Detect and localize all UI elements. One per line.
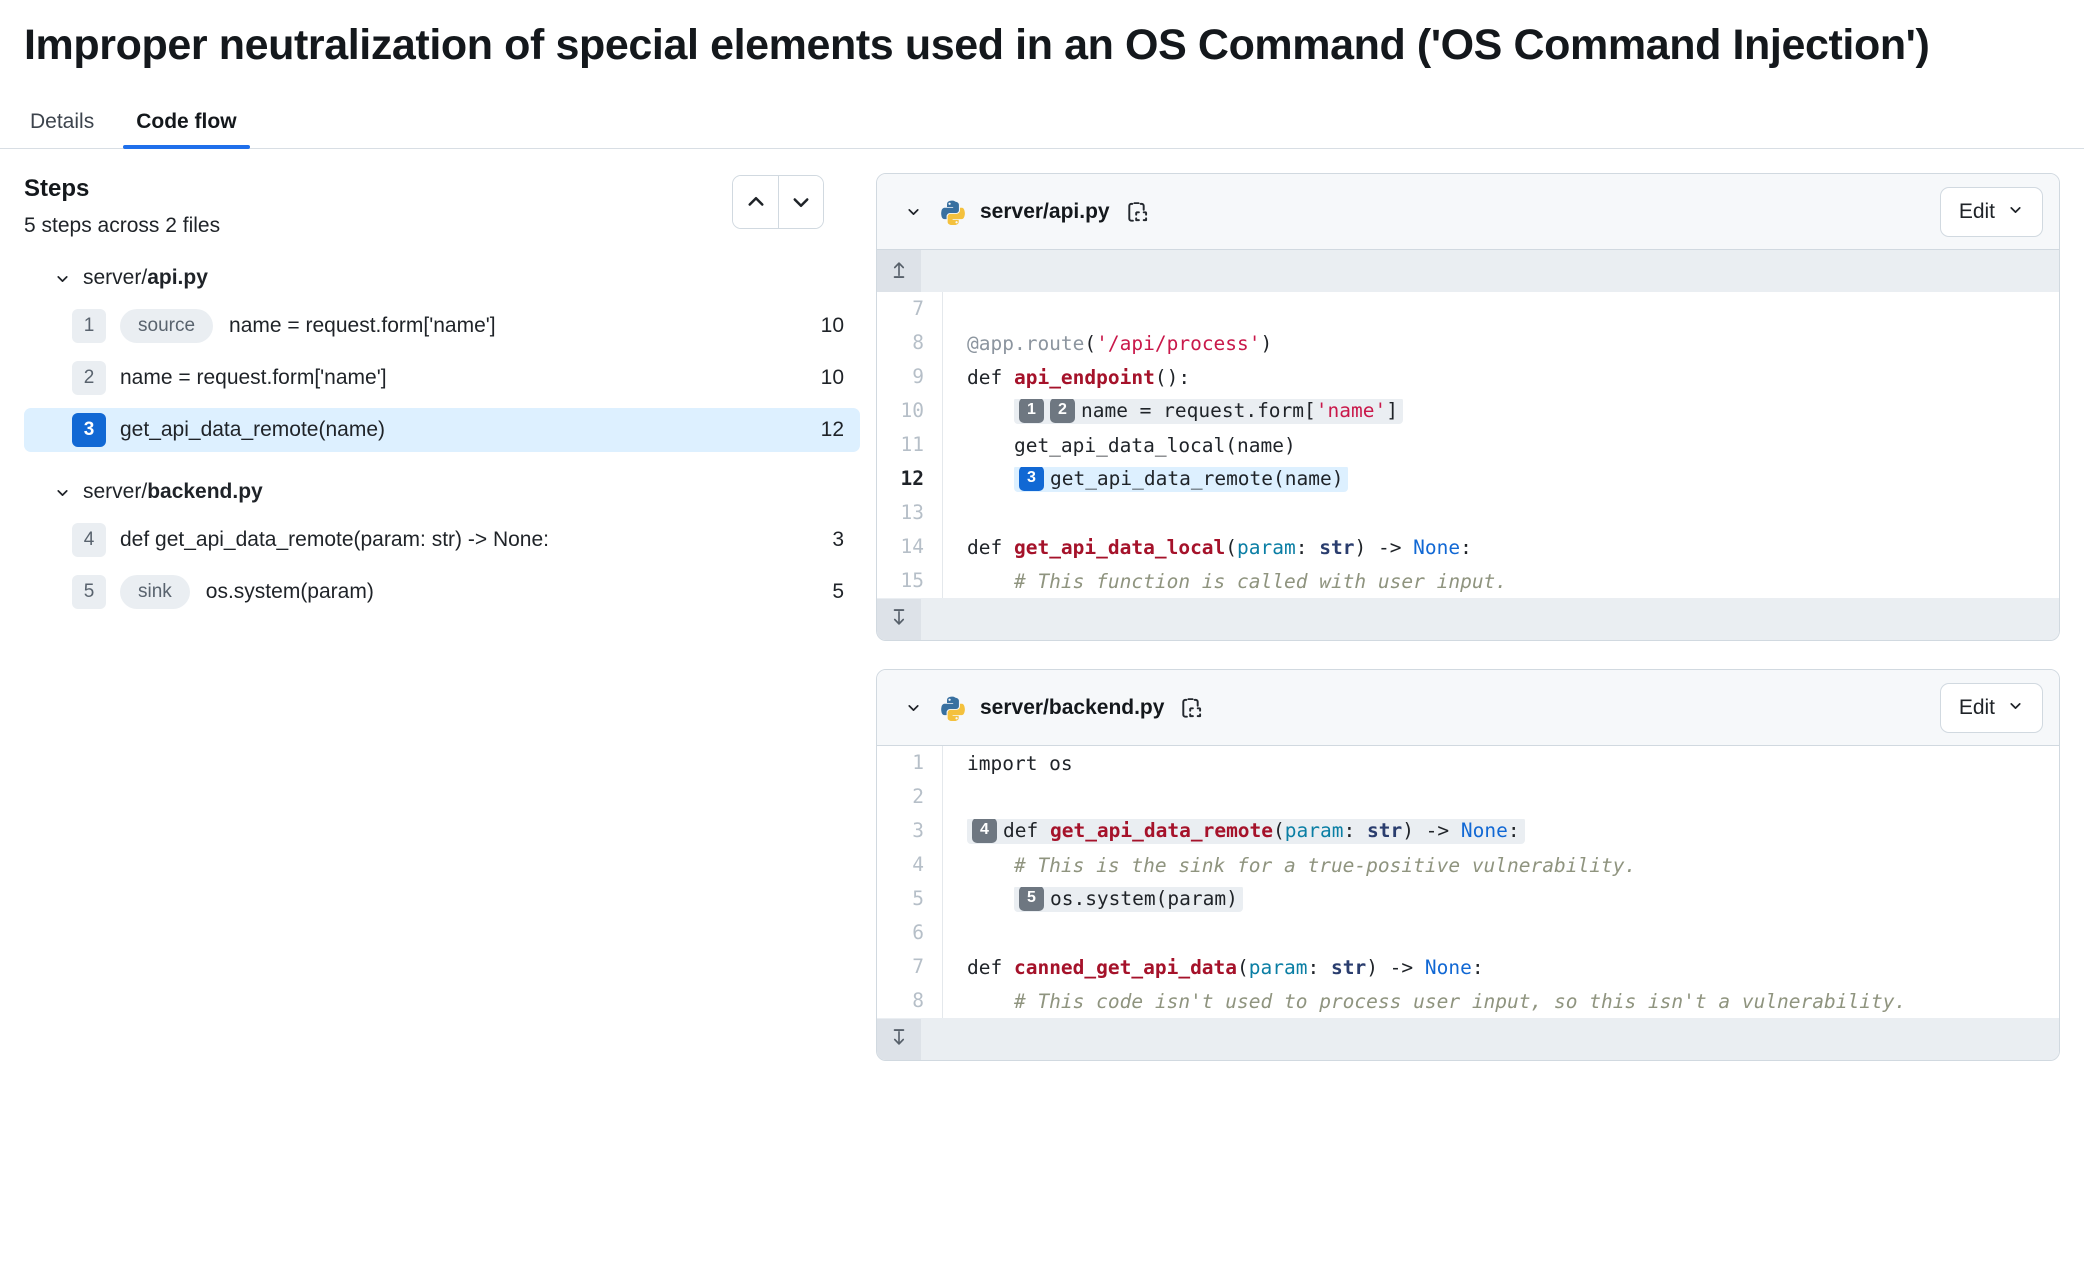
line-number: 1 <box>877 746 943 780</box>
line-content: 3get_api_data_remote(name) <box>943 467 2059 492</box>
chevron-down-icon <box>2007 200 2024 224</box>
step-nav-group <box>732 175 824 229</box>
edit-button[interactable]: Edit <box>1940 187 2043 237</box>
step-code-text: os.system(param) <box>206 580 819 604</box>
edit-button-label: Edit <box>1959 200 1995 224</box>
code-line: 10 12name = request.form['name'] <box>877 394 2059 428</box>
line-number: 7 <box>877 950 943 984</box>
line-number: 13 <box>877 496 943 530</box>
step-line-number: 10 <box>821 366 844 390</box>
line-number: 7 <box>877 292 943 326</box>
step-code-text: name = request.form['name'] <box>229 314 807 338</box>
step-badge-5[interactable]: 5 <box>1019 887 1044 911</box>
code-panel-file-path: server/backend.py <box>980 696 1164 720</box>
code-panel-file-path: server/api.py <box>980 200 1110 224</box>
python-icon <box>940 199 966 225</box>
previous-step-button[interactable] <box>733 176 778 228</box>
copy-icon[interactable] <box>1180 696 1204 720</box>
tab-bar: Details Code flow <box>0 95 2084 149</box>
step-file-group: server/api.py 1 source name = request.fo… <box>24 260 860 452</box>
code-content-backend[interactable]: 1 import os 2 3 4def get_api_data_remote… <box>877 746 2059 1018</box>
step-number: 4 <box>72 523 106 557</box>
step-line-number: 12 <box>821 418 844 442</box>
code-panel-header: server/api.py Edit <box>877 174 2059 250</box>
file-name: api.py <box>147 266 208 289</box>
line-number: 4 <box>877 848 943 882</box>
list-item[interactable]: 5 sink os.system(param) 5 <box>24 570 860 614</box>
chevron-down-icon <box>54 270 71 287</box>
line-number: 6 <box>877 916 943 950</box>
chevron-up-icon <box>746 192 766 212</box>
arrow-down-to-line-icon <box>889 1028 909 1051</box>
copy-icon[interactable] <box>1126 200 1150 224</box>
arrow-up-to-line-icon <box>889 259 909 282</box>
code-line: 8 # This code isn't used to process user… <box>877 984 2059 1018</box>
code-line: 2 <box>877 780 2059 814</box>
scroll-up-strip <box>877 250 2059 292</box>
code-line-current: 12 3get_api_data_remote(name) <box>877 462 2059 496</box>
code-line: 15 # This function is called with user i… <box>877 564 2059 598</box>
step-number: 1 <box>72 309 106 343</box>
line-number: 3 <box>877 814 943 848</box>
chevron-down-icon[interactable] <box>905 699 922 716</box>
scroll-to-top-button[interactable] <box>877 250 921 292</box>
line-number: 9 <box>877 360 943 394</box>
code-line: 7 def canned_get_api_data(param: str) ->… <box>877 950 2059 984</box>
code-line: 7 <box>877 292 2059 326</box>
status-badge: source <box>120 309 213 343</box>
step-file-header-api[interactable]: server/api.py <box>24 260 860 296</box>
step-number: 5 <box>72 575 106 609</box>
step-code-text: name = request.form['name'] <box>120 366 807 390</box>
line-number: 8 <box>877 984 943 1018</box>
line-number: 10 <box>877 394 943 428</box>
chevron-down-icon <box>54 484 71 501</box>
step-file-group: server/backend.py 4 def get_api_data_rem… <box>24 474 860 614</box>
line-content: # This code isn't used to process user i… <box>943 990 2059 1013</box>
line-number: 11 <box>877 428 943 462</box>
list-item[interactable]: 2 name = request.form['name'] 10 <box>24 356 860 400</box>
steps-subtitle: 5 steps across 2 files <box>24 213 220 238</box>
scroll-to-bottom-button[interactable] <box>877 599 921 641</box>
line-content: def canned_get_api_data(param: str) -> N… <box>943 956 2059 979</box>
line-content: @app.route('/api/process') <box>943 332 2059 355</box>
code-line: 5 5os.system(param) <box>877 882 2059 916</box>
step-code-text: get_api_data_remote(name) <box>120 418 807 442</box>
step-line-number: 10 <box>821 314 844 338</box>
code-line: 8 @app.route('/api/process') <box>877 326 2059 360</box>
list-item-selected[interactable]: 3 get_api_data_remote(name) 12 <box>24 408 860 452</box>
step-number: 2 <box>72 361 106 395</box>
line-content: get_api_data_local(name) <box>943 434 2059 457</box>
code-panel-backend: server/backend.py Edit <box>876 669 2060 1061</box>
step-file-path: server/api.py <box>83 266 208 290</box>
scroll-down-strip <box>877 598 2059 640</box>
list-item[interactable]: 1 source name = request.form['name'] 10 <box>24 304 860 348</box>
code-line: 14 def get_api_data_local(param: str) ->… <box>877 530 2059 564</box>
code-line: 13 <box>877 496 2059 530</box>
chevron-down-icon <box>2007 696 2024 720</box>
code-line: 6 <box>877 916 2059 950</box>
line-number: 15 <box>877 564 943 598</box>
step-badge-4[interactable]: 4 <box>972 819 997 843</box>
file-dir: server/ <box>83 480 147 503</box>
step-badge-1[interactable]: 1 <box>1019 399 1044 423</box>
edit-button-label: Edit <box>1959 696 1995 720</box>
line-content: 4def get_api_data_remote(param: str) -> … <box>943 819 2059 844</box>
line-content: 5os.system(param) <box>943 887 2059 912</box>
step-file-path: server/backend.py <box>83 480 263 504</box>
line-number: 5 <box>877 882 943 916</box>
code-line: 1 import os <box>877 746 2059 780</box>
step-line-number: 3 <box>832 528 844 552</box>
steps-title: Steps <box>24 175 220 204</box>
list-item[interactable]: 4 def get_api_data_remote(param: str) ->… <box>24 518 860 562</box>
line-content: import os <box>943 752 2059 775</box>
code-line: 9 def api_endpoint(): <box>877 360 2059 394</box>
page-title: Improper neutralization of special eleme… <box>0 0 2040 73</box>
step-line-number: 5 <box>832 580 844 604</box>
code-line: 3 4def get_api_data_remote(param: str) -… <box>877 814 2059 848</box>
chevron-down-icon <box>791 192 811 212</box>
line-number: 12 <box>877 462 943 496</box>
line-number: 2 <box>877 780 943 814</box>
line-content: def api_endpoint(): <box>943 366 2059 389</box>
next-step-button[interactable] <box>778 176 823 228</box>
file-name: backend.py <box>147 480 263 503</box>
line-content: # This function is called with user inpu… <box>943 570 2059 593</box>
steps-sidebar: Steps 5 steps across 2 files <box>0 149 860 614</box>
scroll-down-strip <box>877 1018 2059 1060</box>
steps-header-text: Steps 5 steps across 2 files <box>24 175 220 238</box>
scroll-to-bottom-button[interactable] <box>877 1019 921 1061</box>
code-line: 11 get_api_data_local(name) <box>877 428 2059 462</box>
tab-code-flow[interactable]: Code flow <box>130 111 242 148</box>
line-content: def get_api_data_local(param: str) -> No… <box>943 536 2059 559</box>
line-content: 12name = request.form['name'] <box>943 399 2059 424</box>
file-dir: server/ <box>83 266 147 289</box>
code-line: 4 # This is the sink for a true-positive… <box>877 848 2059 882</box>
python-icon <box>940 695 966 721</box>
step-badge-3[interactable]: 3 <box>1019 467 1044 491</box>
chevron-down-icon[interactable] <box>905 203 922 220</box>
code-panel-header: server/backend.py Edit <box>877 670 2059 746</box>
line-content: # This is the sink for a true-positive v… <box>943 854 2059 877</box>
step-number: 3 <box>72 413 106 447</box>
step-file-header-backend[interactable]: server/backend.py <box>24 474 860 510</box>
status-badge: sink <box>120 575 190 609</box>
code-panel-api: server/api.py Edit <box>876 173 2060 641</box>
step-badge-2[interactable]: 2 <box>1050 399 1075 423</box>
arrow-down-to-line-icon <box>889 608 909 631</box>
line-number: 8 <box>877 326 943 360</box>
content-area: Steps 5 steps across 2 files <box>0 149 2084 1089</box>
edit-button[interactable]: Edit <box>1940 683 2043 733</box>
code-panels: server/api.py Edit <box>860 149 2084 1089</box>
step-code-text: def get_api_data_remote(param: str) -> N… <box>120 528 818 552</box>
code-flow-page: Improper neutralization of special eleme… <box>0 0 2084 1276</box>
line-number: 14 <box>877 530 943 564</box>
tab-details[interactable]: Details <box>24 111 100 148</box>
code-content-api[interactable]: 7 8 @app.route('/api/process') 9 def api… <box>877 292 2059 598</box>
steps-header: Steps 5 steps across 2 files <box>24 175 860 238</box>
